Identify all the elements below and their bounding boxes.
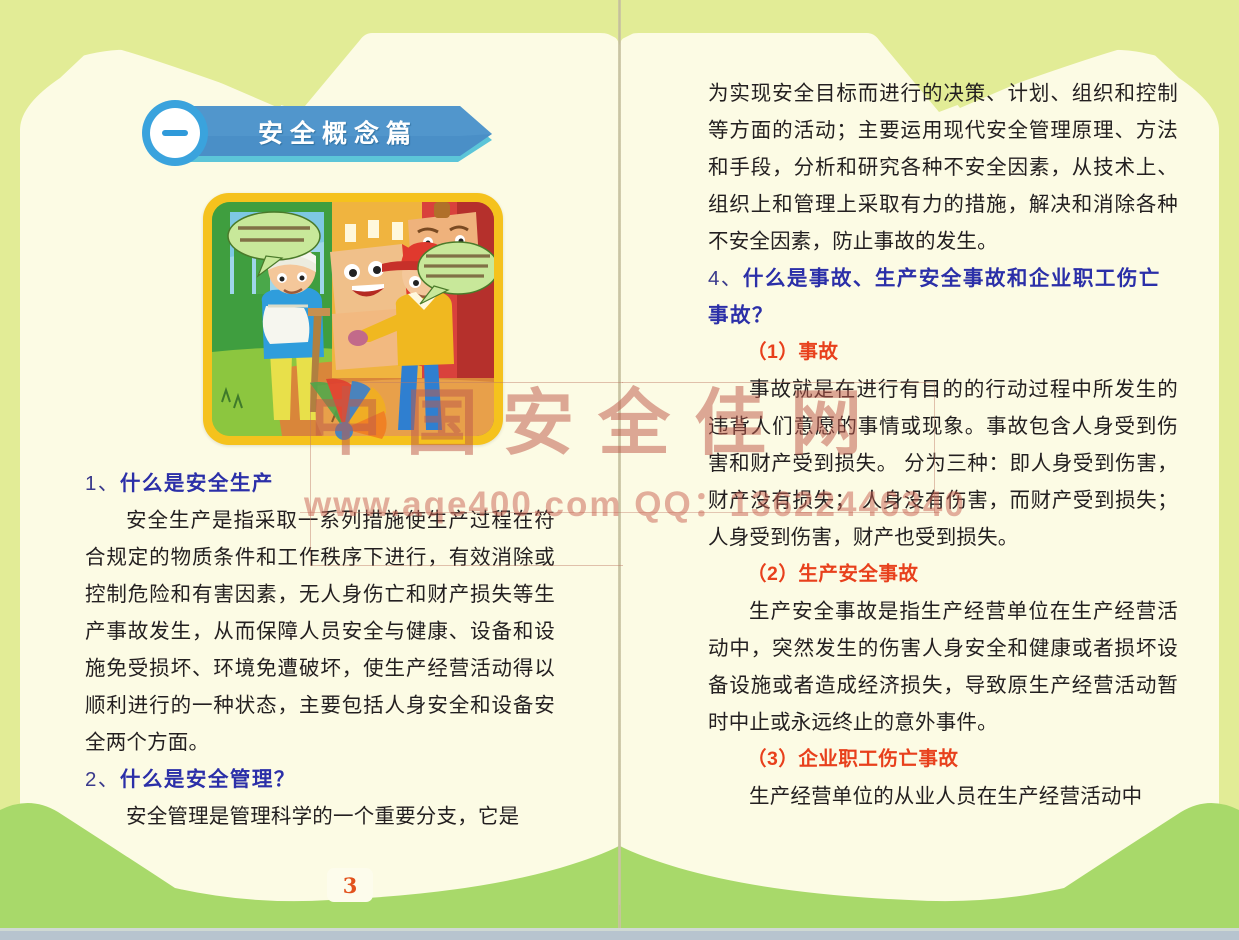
page-number-left: 3 xyxy=(327,868,373,902)
watermark-frame-left xyxy=(310,382,623,566)
paragraph-sub-2: 生产安全事故是指生产经营单位在生产经营活动中，突然发生的伤害人身安全和健康或者损… xyxy=(708,593,1178,741)
heading-4: 4、什么是事故、生产安全事故和企业职工伤亡事故？ xyxy=(708,260,1178,334)
heading-2-text: 什么是安全管理？ xyxy=(120,767,296,791)
section-banner: 安全概念篇 xyxy=(140,98,500,168)
paragraph-sub-3: 生产经营单位的从业人员在生产经营活动中 xyxy=(708,778,1178,815)
heading-4-number: 4、 xyxy=(708,267,743,290)
heading-2: 2、什么是安全管理？ xyxy=(85,761,555,798)
heading-4-text: 什么是事故、生产安全事故和企业职工伤亡事故？ xyxy=(708,266,1161,327)
page-spread: 安全概念篇 xyxy=(0,0,1239,940)
heading-2-number: 2、 xyxy=(85,768,120,791)
banner-title: 安全概念篇 xyxy=(258,114,488,154)
paragraph-intro: 为实现安全目标而进行的决策、计划、组织和控制等方面的活动；主要运用现代安全管理原… xyxy=(708,75,1178,260)
heading-1-number: 1、 xyxy=(85,472,120,495)
subheading-3: （3）企业职工伤亡事故 xyxy=(708,741,1178,778)
subheading-1: （1）事故 xyxy=(708,334,1178,371)
paragraph-2: 安全管理是管理科学的一个重要分支，它是 xyxy=(85,798,555,835)
watermark-frame-right xyxy=(622,382,935,513)
heading-1-text: 什么是安全生产 xyxy=(120,471,274,495)
watermark-rule xyxy=(300,512,940,513)
subheading-2: （2）生产安全事故 xyxy=(708,556,1178,593)
